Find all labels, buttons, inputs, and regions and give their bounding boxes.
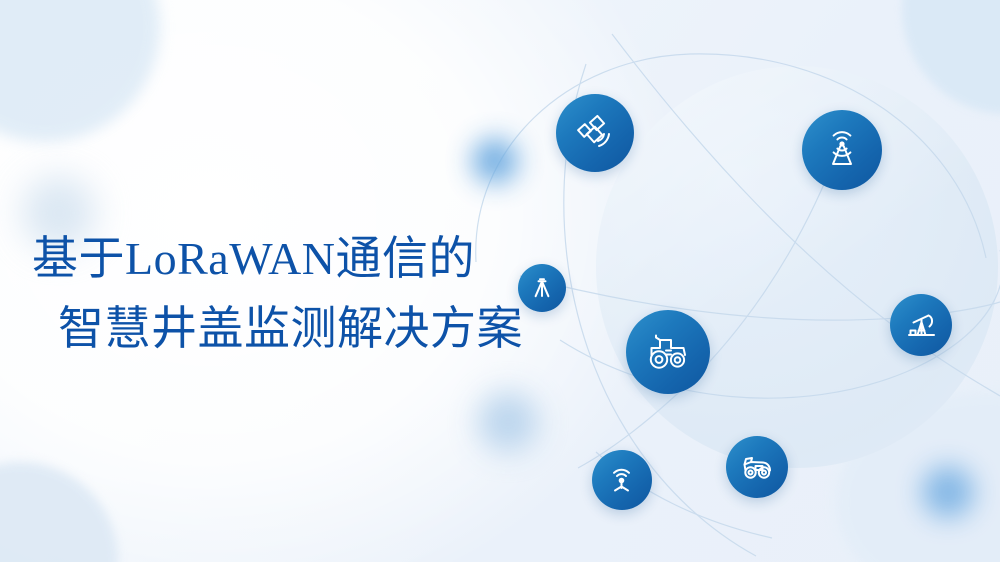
node-wireless-sensor[interactable] — [592, 450, 652, 510]
wireless-sensor-icon — [606, 464, 638, 496]
title-line-1: 基于LoRaWAN通信的 — [32, 224, 572, 294]
satellite-dish-icon — [574, 112, 616, 154]
node-tractor[interactable] — [626, 310, 710, 394]
page-title: 基于LoRaWAN通信的 智慧井盖监测解决方案 — [32, 224, 572, 364]
tractor-icon — [644, 328, 692, 376]
slide-canvas: 基于LoRaWAN通信的 智慧井盖监测解决方案 — [0, 0, 1000, 562]
oil-pumpjack-icon — [904, 308, 938, 342]
harvester-icon — [739, 449, 775, 485]
title-line-2: 智慧井盖监测解决方案 — [32, 294, 572, 364]
node-oil-pumpjack[interactable] — [890, 294, 952, 356]
node-satellite-dish[interactable] — [556, 94, 634, 172]
radio-tower-icon — [820, 128, 864, 172]
node-radio-tower[interactable] — [802, 110, 882, 190]
node-harvester[interactable] — [726, 436, 788, 498]
